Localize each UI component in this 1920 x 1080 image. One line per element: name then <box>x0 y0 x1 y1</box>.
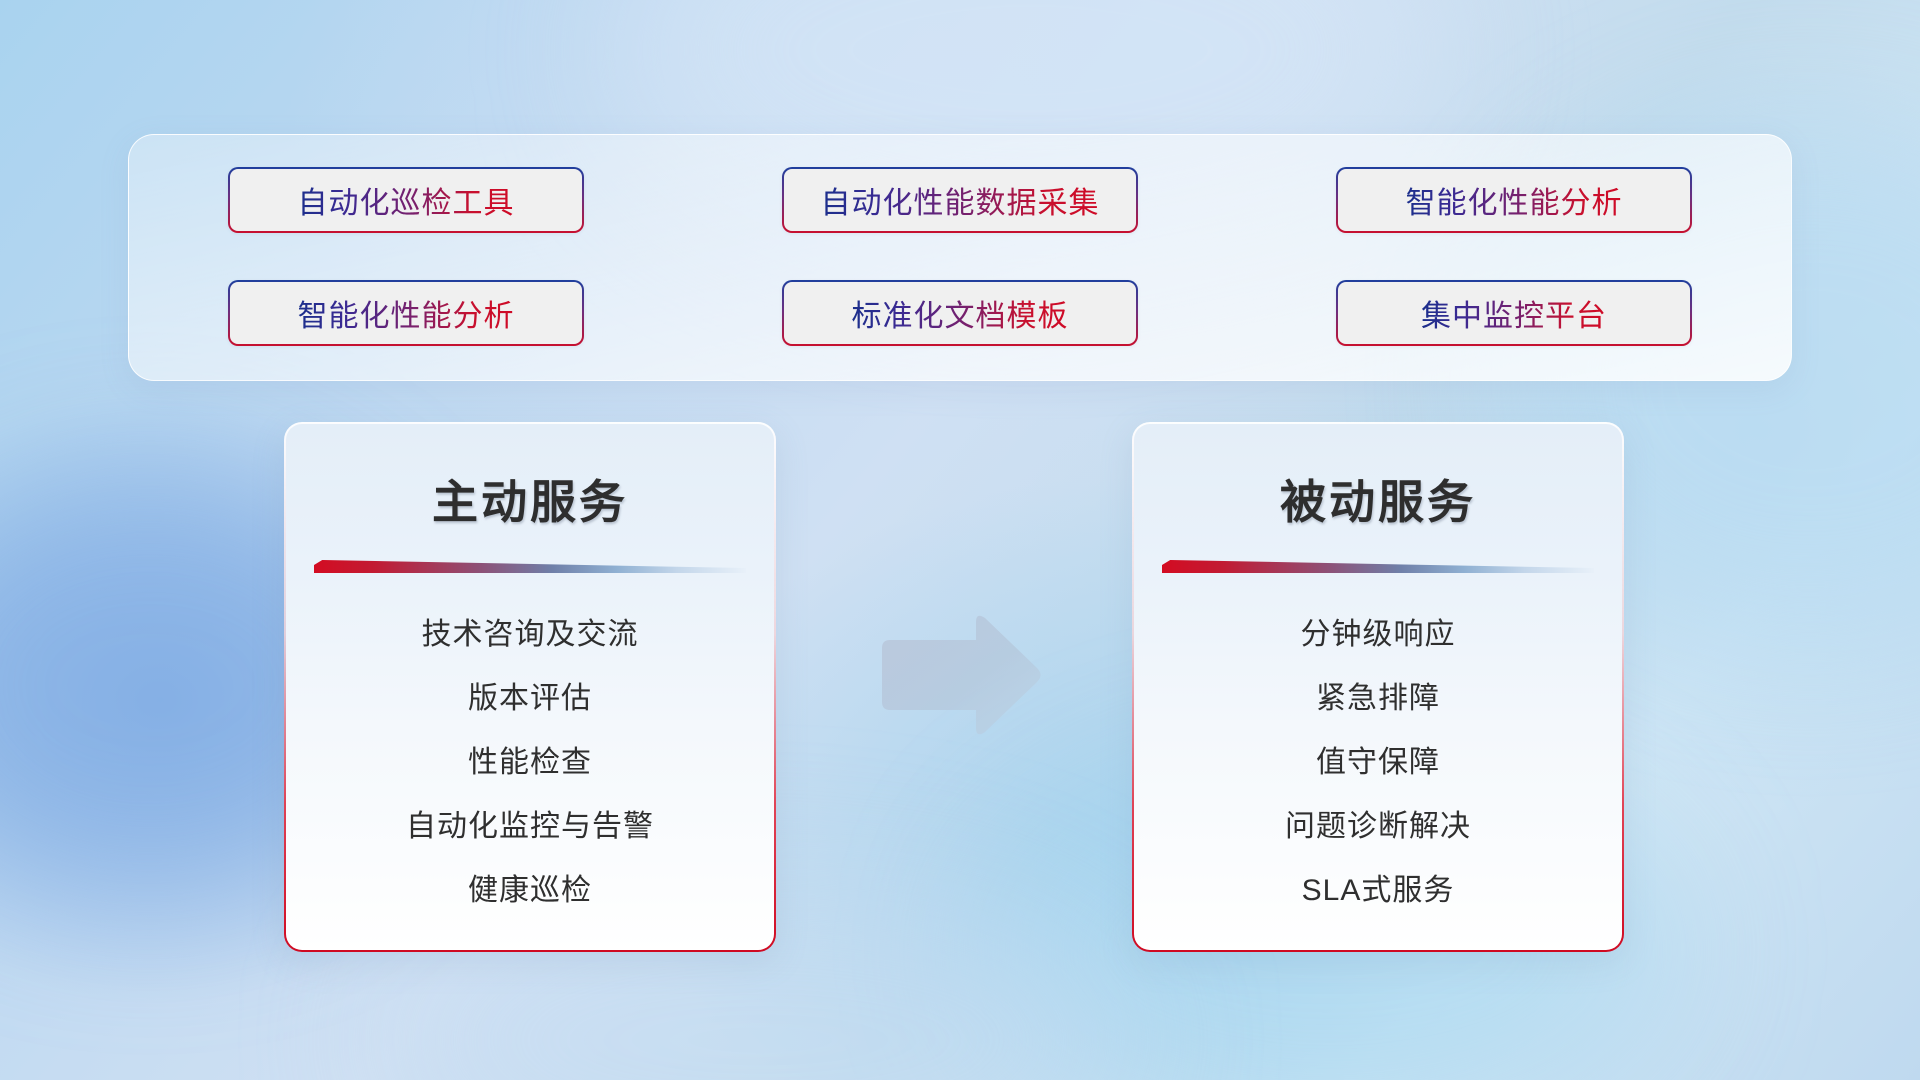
card-divider <box>1162 560 1594 573</box>
service-list-item: 技术咨询及交流 <box>286 603 774 667</box>
service-list-item: SLA式服务 <box>1134 859 1622 923</box>
capability-tag-label: 智能化性能分析 <box>298 291 515 335</box>
capability-tag[interactable]: 智能化性能分析 <box>1336 167 1692 233</box>
service-item-list: 技术咨询及交流 版本评估 性能检查 自动化监控与告警 健康巡检 <box>286 603 774 923</box>
service-list-item: 紧急排障 <box>1134 667 1622 731</box>
card-title: 被动服务 <box>1134 466 1622 532</box>
service-list-item: 版本评估 <box>286 667 774 731</box>
capability-tag[interactable]: 集中监控平台 <box>1336 280 1692 346</box>
capability-tag[interactable]: 自动化巡检工具 <box>228 167 584 233</box>
capability-tag[interactable]: 智能化性能分析 <box>228 280 584 346</box>
service-card-reactive: 被动服务 分钟级响应 紧急排障 值守保障 问题诊断解决 SLA式服务 <box>1132 422 1624 952</box>
capability-tag-label: 标准化文档模板 <box>852 291 1069 335</box>
slide-canvas: 自动化巡检工具 自动化性能数据采集 智能化性能分析 智能化性能分析 标准化文档模… <box>0 0 1920 1080</box>
capability-tag-label: 智能化性能分析 <box>1406 178 1623 222</box>
service-card-proactive: 主动服务 技术咨询及交流 版本评估 性能检查 自动化监控与告警 健康巡检 <box>284 422 776 952</box>
capability-tag-label: 自动化性能数据采集 <box>821 178 1100 222</box>
service-list-item: 分钟级响应 <box>1134 603 1622 667</box>
card-title: 主动服务 <box>286 466 774 532</box>
capability-tag-label: 集中监控平台 <box>1421 291 1607 335</box>
service-list-item: 问题诊断解决 <box>1134 795 1622 859</box>
card-divider-bar <box>314 560 746 573</box>
service-list-item: 性能检查 <box>286 731 774 795</box>
capability-tag[interactable]: 自动化性能数据采集 <box>782 167 1138 233</box>
card-divider-bar <box>1162 560 1594 573</box>
right-arrow-icon <box>872 612 1044 740</box>
capability-tags-panel: 自动化巡检工具 自动化性能数据采集 智能化性能分析 智能化性能分析 标准化文档模… <box>128 134 1792 381</box>
service-list-item: 值守保障 <box>1134 731 1622 795</box>
capability-tag-label: 自动化巡检工具 <box>298 178 515 222</box>
service-list-item: 自动化监控与告警 <box>286 795 774 859</box>
card-divider <box>314 560 746 573</box>
service-item-list: 分钟级响应 紧急排障 值守保障 问题诊断解决 SLA式服务 <box>1134 603 1622 923</box>
service-list-item: 健康巡检 <box>286 859 774 923</box>
capability-tag[interactable]: 标准化文档模板 <box>782 280 1138 346</box>
